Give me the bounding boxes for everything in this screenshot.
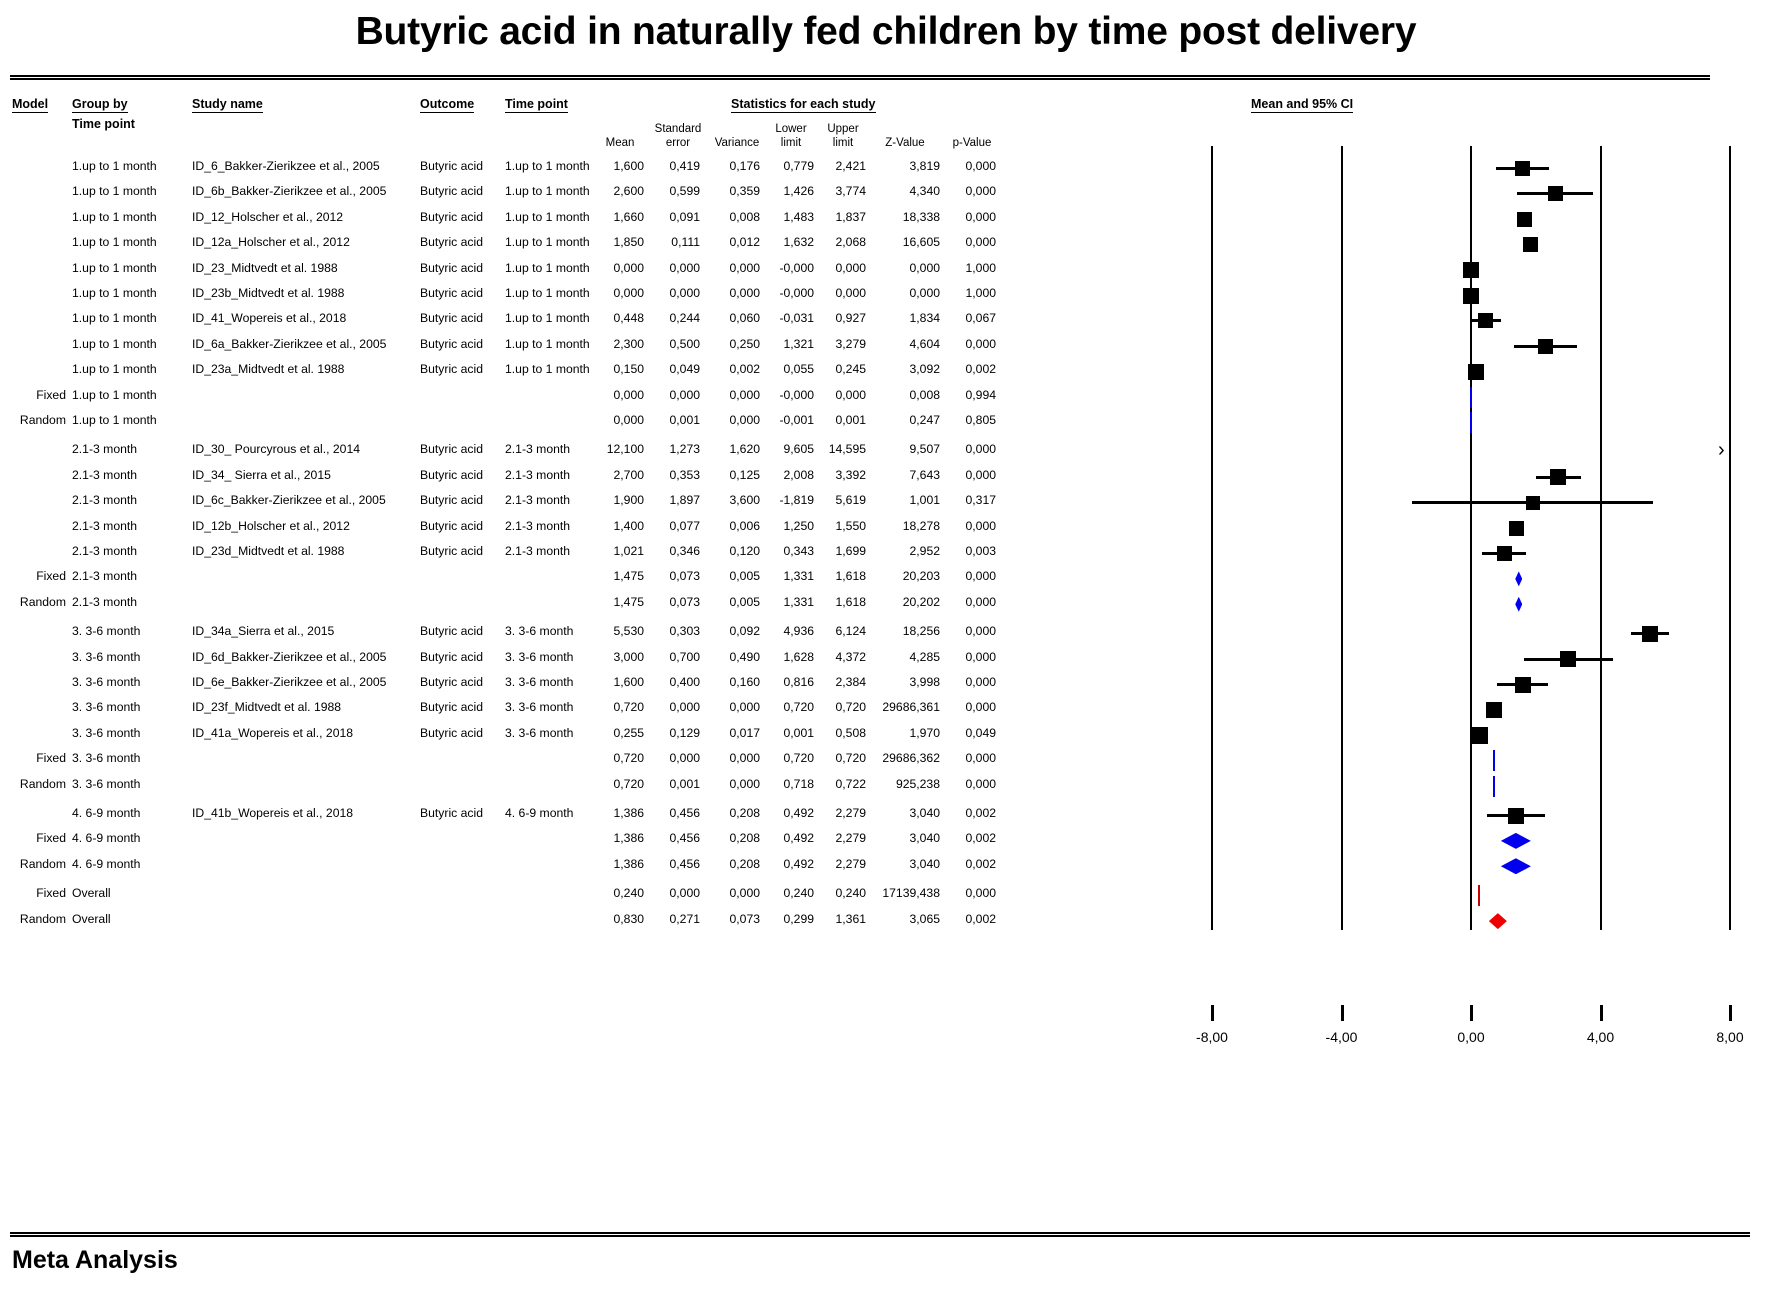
summary-diamond <box>1515 597 1522 612</box>
cell-p-value: 0,000 <box>948 159 996 173</box>
cell-p-value: 0,000 <box>948 624 996 638</box>
cell-lower-limit: 4,936 <box>766 624 814 638</box>
cell-upper-limit: 2,421 <box>818 159 866 173</box>
cell-p-value: 0,002 <box>948 362 996 376</box>
cell-p-value: 1,000 <box>948 286 996 300</box>
cell-lower-limit: 0,492 <box>766 831 814 845</box>
axis-tick-0 <box>1211 1005 1214 1021</box>
cell-p-value: 0,067 <box>948 311 996 325</box>
study-marker <box>1478 313 1493 328</box>
cell-variance: 0,092 <box>712 624 760 638</box>
cell-z-value: 20,202 <box>872 595 940 609</box>
cell-z-value: 7,643 <box>872 468 940 482</box>
table-row: RandomOverall0,8300,2710,0730,2991,3613,… <box>0 909 1180 934</box>
cell-std-error: 0,400 <box>652 675 700 689</box>
axis-tick-2 <box>1470 1005 1473 1021</box>
cell-p-value: 0,000 <box>948 700 996 714</box>
table-row: 1.up to 1 monthID_6b_Bakker-Zierikzee et… <box>0 181 1180 206</box>
cell-z-value: 3,998 <box>872 675 940 689</box>
summary-diamond <box>1493 750 1495 771</box>
cell-p-value: 0,000 <box>948 675 996 689</box>
cell-study: ID_23_Midtvedt et al. 1988 <box>192 261 417 275</box>
cell-variance: 0,005 <box>712 569 760 583</box>
cell-variance: 0,000 <box>712 700 760 714</box>
cell-variance: 3,600 <box>712 493 760 507</box>
cell-z-value: 0,247 <box>872 413 940 427</box>
cell-group: 2.1-3 month <box>72 442 192 456</box>
subheader-std-error-2: error <box>650 137 706 149</box>
forest-plot-canvas: › <box>1040 130 1772 930</box>
plot-row <box>1040 334 1772 359</box>
study-marker <box>1509 521 1524 536</box>
cell-upper-limit: 14,595 <box>818 442 866 456</box>
cell-outcome: Butyric acid <box>420 159 482 173</box>
cell-lower-limit: -0,031 <box>766 311 814 325</box>
cell-study: ID_6_Bakker-Zierikzee et al., 2005 <box>192 159 417 173</box>
cell-lower-limit: -0,000 <box>766 261 814 275</box>
cell-time-point: 3. 3-6 month <box>505 700 603 714</box>
cell-std-error: 0,244 <box>652 311 700 325</box>
cell-p-value: 0,002 <box>948 857 996 871</box>
cell-upper-limit: 5,619 <box>818 493 866 507</box>
cell-lower-limit: 0,816 <box>766 675 814 689</box>
table-row: 1.up to 1 monthID_12a_Holscher et al., 2… <box>0 232 1180 257</box>
cell-z-value: 2,952 <box>872 544 940 558</box>
cell-time-point: 1.up to 1 month <box>505 159 603 173</box>
cell-mean: 1,475 <box>596 595 644 609</box>
footer-label: Meta Analysis <box>12 1246 178 1275</box>
cell-mean: 1,021 <box>596 544 644 558</box>
cell-group: 2.1-3 month <box>72 595 192 609</box>
cell-std-error: 0,500 <box>652 337 700 351</box>
cell-time-point: 4. 6-9 month <box>505 806 603 820</box>
cell-p-value: 0,317 <box>948 493 996 507</box>
table-row: 1.up to 1 monthID_23_Midtvedt et al. 198… <box>0 258 1180 283</box>
cell-outcome: Butyric acid <box>420 493 482 507</box>
cell-mean: 1,660 <box>596 210 644 224</box>
cell-group: 1.up to 1 month <box>72 362 192 376</box>
table-row: 3. 3-6 monthID_6d_Bakker-Zierikzee et al… <box>0 647 1180 672</box>
cell-lower-limit: 9,605 <box>766 442 814 456</box>
study-marker <box>1642 626 1658 642</box>
table-row: 3. 3-6 monthID_6e_Bakker-Zierikzee et al… <box>0 672 1180 697</box>
cell-std-error: 0,111 <box>652 235 700 249</box>
cell-study: ID_6e_Bakker-Zierikzee et al., 2005 <box>192 675 417 689</box>
forest-plot-page: Butyric acid in naturally fed children b… <box>0 0 1772 1297</box>
header-group-by-sub: Time point <box>72 117 135 131</box>
cell-z-value: 3,092 <box>872 362 940 376</box>
cell-p-value: 1,000 <box>948 261 996 275</box>
cell-model: Random <box>0 912 66 926</box>
subheader-std-error-1: Standard <box>650 123 706 135</box>
cell-z-value: 18,256 <box>872 624 940 638</box>
cell-group: 3. 3-6 month <box>72 675 192 689</box>
cell-group: 3. 3-6 month <box>72 650 192 664</box>
cell-lower-limit: 0,240 <box>766 886 814 900</box>
axis-tick-label-1: -4,00 <box>1312 1029 1372 1045</box>
cell-p-value: 0,002 <box>948 912 996 926</box>
table-row: Random1.up to 1 month0,0000,0010,000-0,0… <box>0 410 1180 435</box>
cell-lower-limit: -0,000 <box>766 388 814 402</box>
table-row: Fixed1.up to 1 month0,0000,0000,000-0,00… <box>0 385 1180 410</box>
offscale-arrow-icon: › <box>1718 440 1725 460</box>
subheader-variance: Variance <box>710 137 764 149</box>
table-row: FixedOverall0,2400,0000,0000,2400,240171… <box>0 883 1180 908</box>
cell-variance: 0,490 <box>712 650 760 664</box>
study-marker <box>1526 496 1540 510</box>
cell-std-error: 0,456 <box>652 806 700 820</box>
cell-p-value: 0,000 <box>948 519 996 533</box>
cell-outcome: Butyric acid <box>420 362 482 376</box>
cell-variance: 0,000 <box>712 413 760 427</box>
cell-variance: 0,120 <box>712 544 760 558</box>
cell-z-value: 18,278 <box>872 519 940 533</box>
cell-group: 2.1-3 month <box>72 544 192 558</box>
cell-p-value: 0,000 <box>948 751 996 765</box>
cell-outcome: Butyric acid <box>420 261 482 275</box>
subheader-upper-1: Upper <box>818 123 868 135</box>
cell-upper-limit: 1,618 <box>818 595 866 609</box>
table-row: 1.up to 1 monthID_12_Holscher et al., 20… <box>0 207 1180 232</box>
plot-row <box>1040 308 1772 333</box>
cell-upper-limit: 2,279 <box>818 806 866 820</box>
cell-group: 1.up to 1 month <box>72 159 192 173</box>
cell-std-error: 0,000 <box>652 700 700 714</box>
plot-row <box>1040 672 1772 697</box>
study-marker <box>1471 727 1488 744</box>
cell-p-value: 0,000 <box>948 595 996 609</box>
cell-outcome: Butyric acid <box>420 235 482 249</box>
axis-tick-label-2: 0,00 <box>1441 1029 1501 1045</box>
cell-variance: 0,005 <box>712 595 760 609</box>
plot-row <box>1040 621 1772 646</box>
cell-lower-limit: 0,720 <box>766 700 814 714</box>
plot-row <box>1040 647 1772 672</box>
cell-study: ID_6c_Bakker-Zierikzee et al., 2005 <box>192 493 417 507</box>
cell-z-value: 3,819 <box>872 159 940 173</box>
cell-mean: 1,900 <box>596 493 644 507</box>
cell-std-error: 0,353 <box>652 468 700 482</box>
plot-row <box>1040 828 1772 853</box>
table-row: 3. 3-6 monthID_23f_Midtvedt et al. 1988B… <box>0 697 1180 722</box>
cell-std-error: 0,000 <box>652 751 700 765</box>
cell-z-value: 20,203 <box>872 569 940 583</box>
cell-lower-limit: 1,426 <box>766 184 814 198</box>
cell-group: 2.1-3 month <box>72 569 192 583</box>
cell-upper-limit: 0,720 <box>818 751 866 765</box>
plot-row <box>1040 516 1772 541</box>
cell-variance: 0,208 <box>712 831 760 845</box>
plot-row: › <box>1040 439 1772 464</box>
table-row: 1.up to 1 monthID_23b_Midtvedt et al. 19… <box>0 283 1180 308</box>
summary-diamond <box>1501 858 1531 874</box>
cell-variance: 0,000 <box>712 777 760 791</box>
cell-outcome: Butyric acid <box>420 544 482 558</box>
summary-diamond <box>1478 885 1480 906</box>
cell-mean: 5,530 <box>596 624 644 638</box>
cell-time-point: 1.up to 1 month <box>505 261 603 275</box>
cell-time-point: 3. 3-6 month <box>505 624 603 638</box>
plot-axis: -8,00-4,000,004,008,00 <box>1040 1005 1772 1065</box>
cell-p-value: 0,002 <box>948 806 996 820</box>
table-row: 3. 3-6 month ID_34a_Sierra et al., 2015B… <box>0 621 1180 646</box>
plot-row <box>1040 566 1772 591</box>
cell-upper-limit: 0,000 <box>818 388 866 402</box>
cell-variance: 0,000 <box>712 286 760 300</box>
cell-time-point: 3. 3-6 month <box>505 726 603 740</box>
cell-outcome: Butyric acid <box>420 806 482 820</box>
study-marker <box>1515 161 1530 176</box>
cell-time-point: 1.up to 1 month <box>505 311 603 325</box>
cell-variance: 0,017 <box>712 726 760 740</box>
cell-upper-limit: 4,372 <box>818 650 866 664</box>
cell-mean: 0,240 <box>596 886 644 900</box>
cell-lower-limit: 0,779 <box>766 159 814 173</box>
cell-z-value: 0,008 <box>872 388 940 402</box>
subheader-lower-1: Lower <box>766 123 816 135</box>
cell-upper-limit: 2,279 <box>818 831 866 845</box>
table-row: 1.up to 1 monthID_6a_Bakker-Zierikzee et… <box>0 334 1180 359</box>
cell-group: 1.up to 1 month <box>72 337 192 351</box>
cell-z-value: 3,040 <box>872 857 940 871</box>
cell-outcome: Butyric acid <box>420 675 482 689</box>
footer-divider <box>10 1232 1750 1237</box>
cell-upper-limit: 6,124 <box>818 624 866 638</box>
cell-upper-limit: 1,550 <box>818 519 866 533</box>
study-marker <box>1517 212 1532 227</box>
cell-study: ID_30_ Pourcyrous et al., 2014 <box>192 442 417 456</box>
cell-std-error: 0,001 <box>652 413 700 427</box>
cell-group: 1.up to 1 month <box>72 210 192 224</box>
cell-std-error: 1,897 <box>652 493 700 507</box>
cell-lower-limit: -0,001 <box>766 413 814 427</box>
cell-upper-limit: 3,774 <box>818 184 866 198</box>
cell-lower-limit: 1,331 <box>766 569 814 583</box>
study-marker <box>1463 288 1479 304</box>
cell-upper-limit: 0,000 <box>818 286 866 300</box>
cell-time-point: 1.up to 1 month <box>505 286 603 300</box>
cell-p-value: 0,049 <box>948 726 996 740</box>
cell-z-value: 17139,438 <box>872 886 940 900</box>
cell-lower-limit: 1,321 <box>766 337 814 351</box>
cell-std-error: 0,000 <box>652 286 700 300</box>
cell-variance: 0,006 <box>712 519 760 533</box>
cell-std-error: 0,091 <box>652 210 700 224</box>
cell-time-point: 1.up to 1 month <box>505 184 603 198</box>
cell-p-value: 0,000 <box>948 569 996 583</box>
cell-std-error: 0,456 <box>652 857 700 871</box>
cell-group: 3. 3-6 month <box>72 700 192 714</box>
cell-model: Fixed <box>0 751 66 765</box>
cell-z-value: 3,040 <box>872 831 940 845</box>
cell-outcome: Butyric acid <box>420 700 482 714</box>
cell-model: Random <box>0 595 66 609</box>
cell-p-value: 0,000 <box>948 442 996 456</box>
cell-time-point: 1.up to 1 month <box>505 337 603 351</box>
cell-p-value: 0,000 <box>948 468 996 482</box>
cell-lower-limit: -1,819 <box>766 493 814 507</box>
summary-diamond <box>1470 387 1472 408</box>
cell-outcome: Butyric acid <box>420 337 482 351</box>
cell-model: Fixed <box>0 886 66 900</box>
study-marker <box>1508 808 1524 824</box>
cell-variance: 0,060 <box>712 311 760 325</box>
cell-study: ID_6b_Bakker-Zierikzee et al., 2005 <box>192 184 417 198</box>
cell-study: ID_12b_Holscher et al., 2012 <box>192 519 417 533</box>
cell-std-error: 0,129 <box>652 726 700 740</box>
cell-study: ID_23a_Midtvedt et al. 1988 <box>192 362 417 376</box>
table-row: Fixed3. 3-6 month0,7200,0000,0000,7200,7… <box>0 748 1180 773</box>
summary-diamond <box>1470 412 1472 433</box>
table-row: 4. 6-9 monthID_41b_Wopereis et al., 2018… <box>0 803 1180 828</box>
plot-row <box>1040 909 1772 934</box>
study-marker <box>1515 677 1531 693</box>
cell-study: ID_41b_Wopereis et al., 2018 <box>192 806 417 820</box>
cell-outcome: Butyric acid <box>420 624 482 638</box>
cell-mean: 1,600 <box>596 675 644 689</box>
cell-upper-limit: 2,279 <box>818 857 866 871</box>
cell-p-value: 0,003 <box>948 544 996 558</box>
cell-group: Overall <box>72 886 192 900</box>
plot-row <box>1040 723 1772 748</box>
plot-row <box>1040 359 1772 384</box>
table-row: 2.1-3 monthID_23d_Midtvedt et al. 1988Bu… <box>0 541 1180 566</box>
cell-lower-limit: 0,299 <box>766 912 814 926</box>
cell-p-value: 0,002 <box>948 831 996 845</box>
cell-mean: 2,600 <box>596 184 644 198</box>
axis-tick-4 <box>1729 1005 1732 1021</box>
table-row: Fixed4. 6-9 month1,3860,4560,2080,4922,2… <box>0 828 1180 853</box>
cell-group: Overall <box>72 912 192 926</box>
cell-study: ID_41_Wopereis et al., 2018 <box>192 311 417 325</box>
plot-row <box>1040 854 1772 879</box>
cell-z-value: 0,000 <box>872 286 940 300</box>
study-marker <box>1468 364 1484 380</box>
cell-group: 3. 3-6 month <box>72 777 192 791</box>
cell-lower-limit: 0,343 <box>766 544 814 558</box>
axis-tick-label-0: -8,00 <box>1182 1029 1242 1045</box>
cell-study: ID_23d_Midtvedt et al. 1988 <box>192 544 417 558</box>
study-marker <box>1486 702 1502 718</box>
plot-row <box>1040 592 1772 617</box>
table-row: 2.1-3 monthID_34_ Sierra et al., 2015But… <box>0 465 1180 490</box>
cell-time-point: 1.up to 1 month <box>505 210 603 224</box>
cell-mean: 3,000 <box>596 650 644 664</box>
study-marker <box>1548 186 1563 201</box>
study-marker <box>1523 237 1538 252</box>
cell-z-value: 3,065 <box>872 912 940 926</box>
study-marker <box>1538 339 1553 354</box>
cell-p-value: 0,994 <box>948 388 996 402</box>
cell-z-value: 1,970 <box>872 726 940 740</box>
study-marker <box>1497 546 1512 561</box>
cell-study: ID_41a_Wopereis et al., 2018 <box>192 726 417 740</box>
header-outcome: Outcome <box>420 97 474 113</box>
cell-mean: 0,720 <box>596 777 644 791</box>
cell-z-value: 16,605 <box>872 235 940 249</box>
cell-z-value: 0,000 <box>872 261 940 275</box>
cell-group: 4. 6-9 month <box>72 857 192 871</box>
cell-group: 1.up to 1 month <box>72 311 192 325</box>
cell-lower-limit: 2,008 <box>766 468 814 482</box>
cell-upper-limit: 1,699 <box>818 544 866 558</box>
plot-row <box>1040 181 1772 206</box>
cell-study: ID_23b_Midtvedt et al. 1988 <box>192 286 417 300</box>
cell-outcome: Butyric acid <box>420 210 482 224</box>
plot-row <box>1040 541 1772 566</box>
cell-p-value: 0,000 <box>948 337 996 351</box>
cell-lower-limit: 1,331 <box>766 595 814 609</box>
cell-std-error: 0,049 <box>652 362 700 376</box>
cell-lower-limit: 0,492 <box>766 857 814 871</box>
cell-std-error: 0,700 <box>652 650 700 664</box>
cell-outcome: Butyric acid <box>420 184 482 198</box>
cell-outcome: Butyric acid <box>420 468 482 482</box>
cell-variance: 0,160 <box>712 675 760 689</box>
table-row: Random3. 3-6 month0,7200,0010,0000,7180,… <box>0 774 1180 799</box>
cell-mean: 0,830 <box>596 912 644 926</box>
table-row: 2.1-3 monthID_6c_Bakker-Zierikzee et al.… <box>0 490 1180 515</box>
cell-outcome: Butyric acid <box>420 442 482 456</box>
summary-diamond <box>1489 913 1507 929</box>
cell-time-point: 2.1-3 month <box>505 493 603 507</box>
cell-std-error: 0,419 <box>652 159 700 173</box>
cell-upper-limit: 0,245 <box>818 362 866 376</box>
cell-group: 3. 3-6 month <box>72 624 192 638</box>
cell-lower-limit: 1,632 <box>766 235 814 249</box>
cell-upper-limit: 3,279 <box>818 337 866 351</box>
cell-variance: 0,208 <box>712 806 760 820</box>
axis-tick-label-4: 8,00 <box>1700 1029 1760 1045</box>
cell-study: ID_6a_Bakker-Zierikzee et al., 2005 <box>192 337 417 351</box>
cell-mean: 0,000 <box>596 286 644 300</box>
cell-time-point: 1.up to 1 month <box>505 362 603 376</box>
table-row: 2.1-3 monthID_12b_Holscher et al., 2012B… <box>0 516 1180 541</box>
cell-upper-limit: 0,000 <box>818 261 866 275</box>
cell-upper-limit: 0,722 <box>818 777 866 791</box>
cell-z-value: 925,238 <box>872 777 940 791</box>
cell-study: ID_34a_Sierra et al., 2015 <box>192 624 417 638</box>
cell-std-error: 0,073 <box>652 569 700 583</box>
plot-row <box>1040 385 1772 410</box>
cell-outcome: Butyric acid <box>420 311 482 325</box>
table-row: 2.1-3 monthID_30_ Pourcyrous et al., 201… <box>0 439 1180 464</box>
cell-upper-limit: 1,618 <box>818 569 866 583</box>
cell-mean: 0,000 <box>596 261 644 275</box>
study-marker <box>1463 262 1479 278</box>
header-plot: Mean and 95% CI <box>1251 97 1353 113</box>
summary-diamond <box>1501 833 1531 849</box>
cell-outcome: Butyric acid <box>420 650 482 664</box>
cell-p-value: 0,000 <box>948 235 996 249</box>
cell-std-error: 0,599 <box>652 184 700 198</box>
cell-time-point: 3. 3-6 month <box>505 650 603 664</box>
cell-group: 2.1-3 month <box>72 493 192 507</box>
cell-lower-limit: 1,250 <box>766 519 814 533</box>
plot-row <box>1040 803 1772 828</box>
study-marker <box>1560 651 1576 667</box>
cell-mean: 0,448 <box>596 311 644 325</box>
header-model: Model <box>12 97 48 113</box>
cell-std-error: 0,271 <box>652 912 700 926</box>
cell-study: ID_6d_Bakker-Zierikzee et al., 2005 <box>192 650 417 664</box>
cell-group: 3. 3-6 month <box>72 751 192 765</box>
cell-std-error: 0,456 <box>652 831 700 845</box>
table-row: 1.up to 1 monthID_23a_Midtvedt et al. 19… <box>0 359 1180 384</box>
axis-tick-3 <box>1600 1005 1603 1021</box>
subheader-p-value: p-Value <box>944 137 1000 149</box>
plot-row <box>1040 697 1772 722</box>
